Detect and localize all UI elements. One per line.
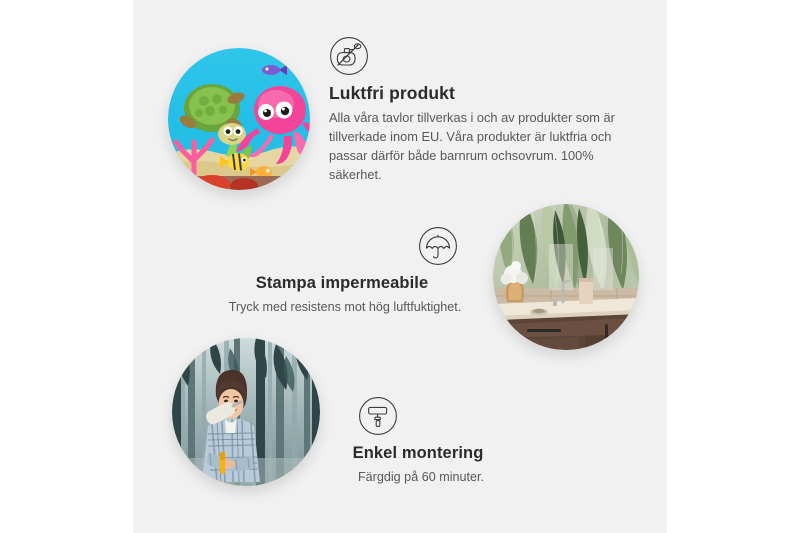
feature-description: Färgdig på 60 minuter. xyxy=(306,468,536,487)
feature-block-easy-mounting: Enkel montering Färgdig på 60 minuter. xyxy=(306,396,536,486)
feature-title: Stampa impermeabile xyxy=(210,273,480,294)
feature-description: Alla våra tavlor tillverkas i och av pro… xyxy=(329,109,629,185)
feature-description: Tryck med resistens mot hög luftfuktighe… xyxy=(210,298,480,317)
feature-title: Enkel montering xyxy=(306,443,536,464)
feature-block-waterproof-print: Stampa impermeabile Tryck med resistens … xyxy=(210,226,480,316)
feature-block-odour-free: Luktfri produkt Alla våra tavlor tillver… xyxy=(329,36,629,185)
paint-roller-icon xyxy=(306,396,536,436)
promo-panel: Luktfri produkt Alla våra tavlor tillver… xyxy=(0,0,800,533)
feature-title: Luktfri produkt xyxy=(329,83,629,105)
feature-image-bathroom-tropical-wallpaper xyxy=(493,204,639,350)
umbrella-icon xyxy=(210,226,480,266)
feature-image-woman-with-paint-roller-forest xyxy=(172,338,320,486)
no-fragrance-spray-icon xyxy=(329,36,629,76)
feature-image-underwater-cartoon-mural xyxy=(168,48,310,190)
